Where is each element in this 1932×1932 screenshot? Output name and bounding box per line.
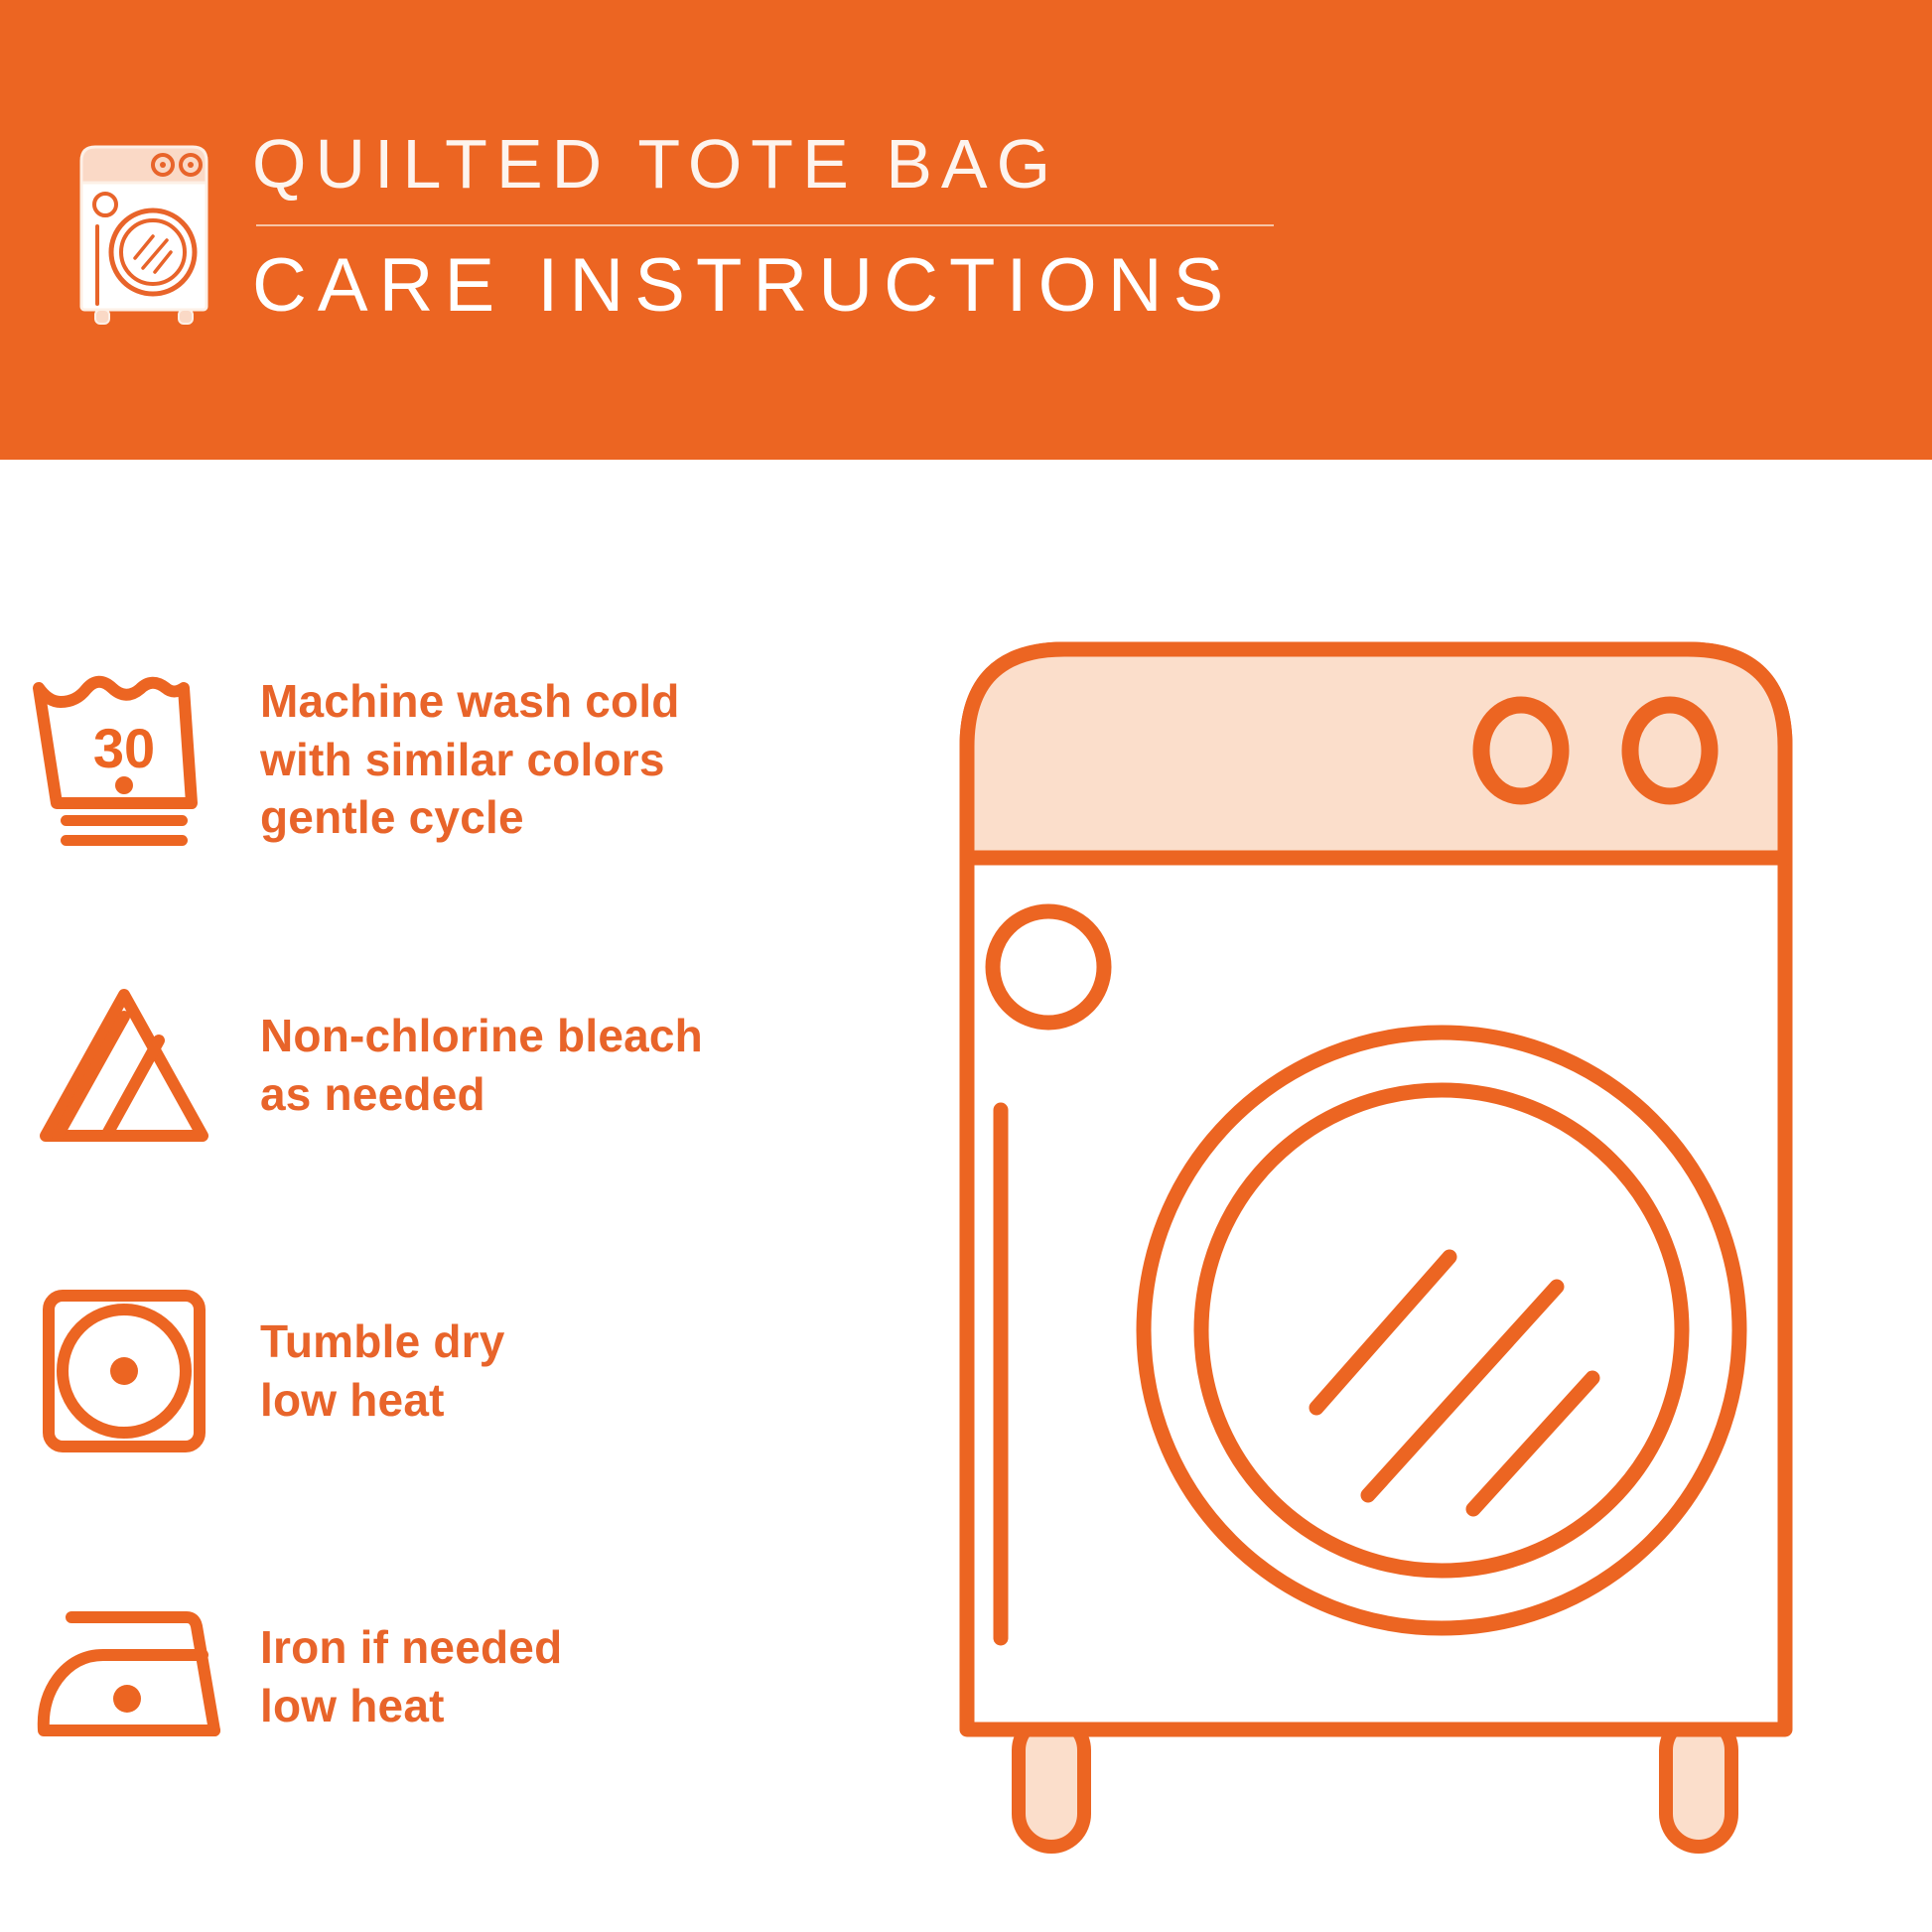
knob-right[interactable] [1630, 705, 1710, 796]
title-divider [256, 224, 1274, 226]
wash-temperature-text: 30 [93, 717, 155, 779]
washing-machine-icon [71, 137, 220, 326]
wash-symbol-wrap: 30 [0, 668, 248, 852]
header-titles: QUILTED TOTE BAG CARE INSTRUCTIONS [252, 127, 1274, 324]
washing-machine-illustration [953, 635, 1866, 1857]
care-label-bleach: Non-chlorine bleach as needed [260, 1007, 703, 1124]
iron-heat-dot [113, 1685, 141, 1713]
care-item-iron: Iron if needed low heat [0, 1553, 973, 1801]
care-item-wash: 30 Machine wash cold with similar colors… [0, 635, 973, 884]
knob-left[interactable] [1481, 705, 1561, 796]
iron-low-heat-icon [20, 1595, 228, 1759]
page-title: QUILTED TOTE BAG [252, 129, 1274, 199]
iron-symbol-wrap [0, 1595, 248, 1759]
wash-dot [115, 776, 133, 794]
dry-heat-dot [110, 1357, 138, 1385]
care-label-dry: Tumble dry low heat [260, 1312, 505, 1430]
tumble-dry-low-icon [35, 1282, 213, 1460]
bleach-symbol-wrap [0, 979, 248, 1153]
wash-tub-30-gentle-icon: 30 [25, 668, 223, 852]
page-subtitle: CARE INSTRUCTIONS [252, 248, 1274, 324]
non-chlorine-bleach-triangle-icon [30, 979, 218, 1153]
care-instruction-list: 30 Machine wash cold with similar colors… [0, 635, 973, 1859]
care-item-dry: Tumble dry low heat [0, 1247, 973, 1495]
care-label-wash: Machine wash cold with similar colors ge… [260, 672, 680, 848]
care-item-bleach: Non-chlorine bleach as needed [0, 941, 973, 1189]
header-banner: QUILTED TOTE BAG CARE INSTRUCTIONS [0, 0, 1932, 460]
header-content: QUILTED TOTE BAG CARE INSTRUCTIONS [71, 127, 1274, 326]
care-label-iron: Iron if needed low heat [260, 1618, 562, 1735]
dry-symbol-wrap [0, 1282, 248, 1460]
